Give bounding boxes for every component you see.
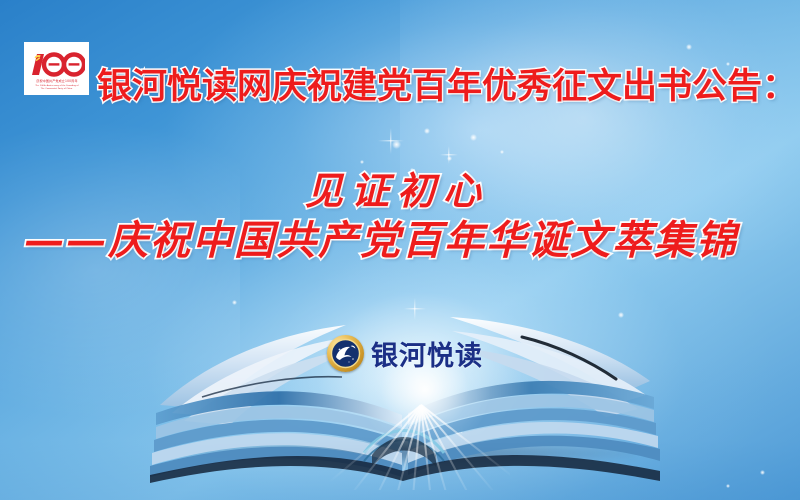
cpc-100-emblem: 庆祝中国共产党成立100周年 The 100th Anniversary of … [24, 42, 89, 95]
sparkle-dot [500, 150, 504, 154]
headline-main: 银河悦读网庆祝建党百年优秀征文出书公告： [97, 58, 797, 109]
headline-sub-title: 见证初心 [305, 160, 489, 215]
sparkle-dot [686, 44, 692, 50]
open-book-illustration [150, 285, 660, 485]
poster-canvas: 庆祝中国共产党成立100周年 The 100th Anniversary of … [0, 0, 800, 500]
sparkle-star [378, 128, 404, 154]
sparkle-dot [424, 128, 430, 134]
brand-logo: 银河悦读 [327, 334, 483, 373]
sparkle-dot [726, 484, 730, 488]
headline-sub-subtitle: ——庆祝中国共产党百年华诞文萃集锦 [24, 208, 738, 266]
sparkle-dot [760, 470, 765, 475]
emblem-graphic [29, 49, 85, 79]
emblem-en-caption-2: The Communist Party of China [41, 87, 73, 90]
sparkle-dot [392, 140, 401, 149]
brand-name: 银河悦读 [371, 334, 483, 373]
sparkle-dot [470, 134, 477, 141]
whale-emblem-icon [327, 335, 364, 372]
emblem-cn-caption: 庆祝中国共产党成立100周年 [36, 79, 77, 83]
